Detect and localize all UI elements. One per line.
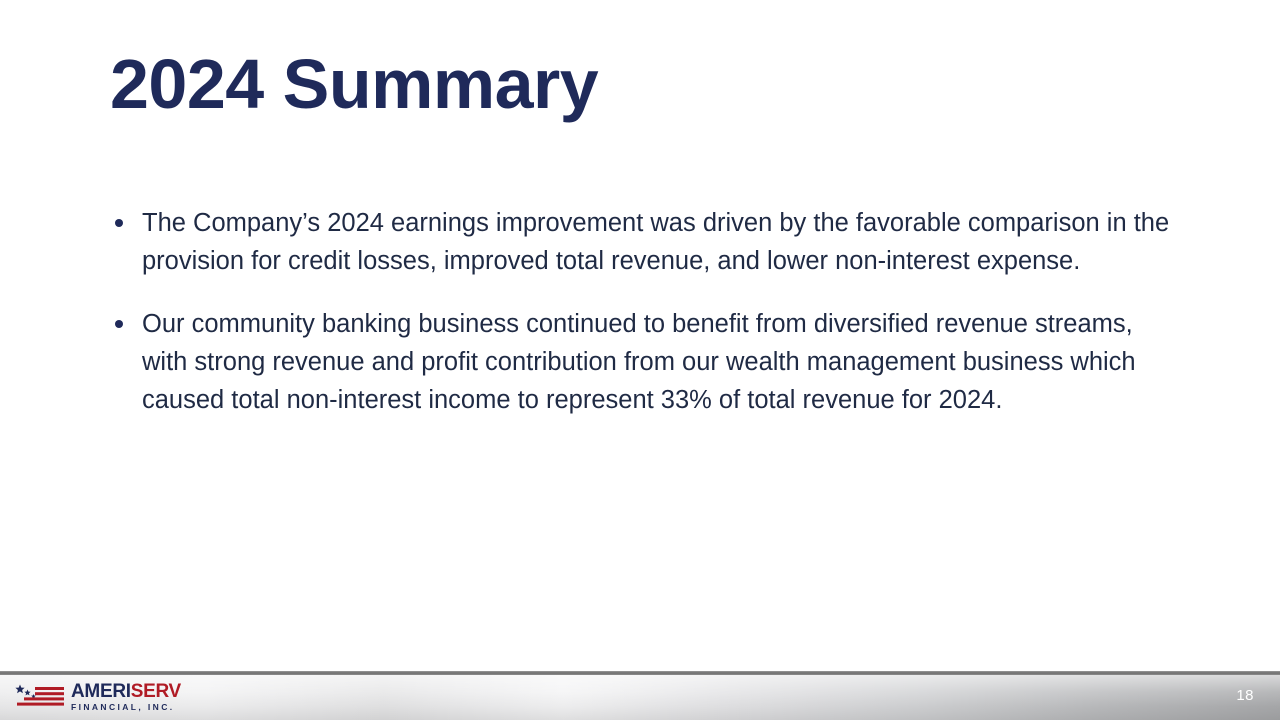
- bullet-list: The Company’s 2024 earnings improvement …: [110, 204, 1180, 419]
- page-number: 18: [1236, 687, 1254, 704]
- bullet-text: Our community banking business continued…: [142, 305, 1180, 419]
- american-flag-icon: [14, 684, 64, 710]
- logo-wordmark: AMERISERV FINANCIAL, INC.: [71, 682, 181, 712]
- logo-name: AMERISERV: [71, 682, 181, 701]
- bullet-dot-icon: [115, 219, 123, 227]
- footer-sheen: [0, 675, 1280, 720]
- logo-subtitle: FINANCIAL, INC.: [71, 703, 181, 712]
- bullet-dot-icon: [115, 320, 123, 328]
- list-item: The Company’s 2024 earnings improvement …: [110, 204, 1180, 280]
- logo-name-accent: SERV: [131, 681, 181, 702]
- bullet-text: The Company’s 2024 earnings improvement …: [142, 204, 1180, 280]
- list-item: Our community banking business continued…: [110, 305, 1180, 419]
- logo-name-primary: AMERI: [71, 681, 131, 702]
- page-title: 2024 Summary: [110, 48, 598, 122]
- ameriserv-logo: AMERISERV FINANCIAL, INC.: [14, 681, 181, 713]
- slide: 2024 Summary The Company’s 2024 earnings…: [0, 0, 1280, 720]
- footer-band: [0, 675, 1280, 720]
